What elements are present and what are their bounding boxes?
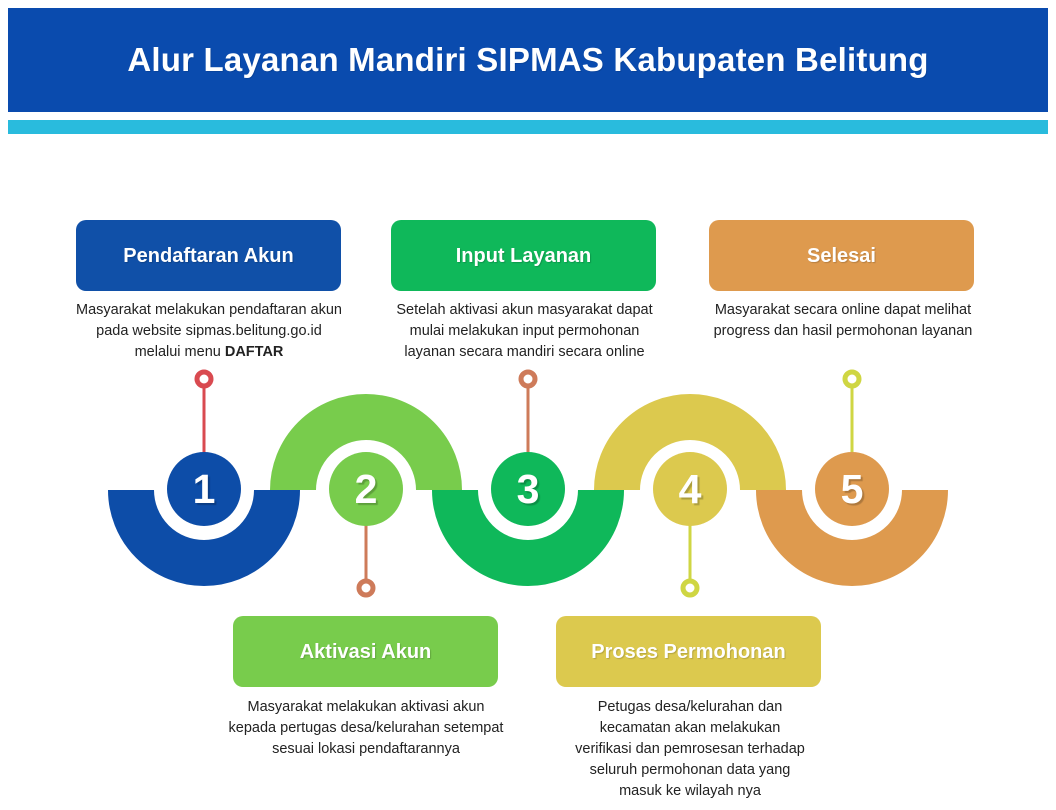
- step-pill-5[interactable]: Selesai: [709, 220, 974, 291]
- connector-dot-3: [521, 372, 535, 386]
- step-description-4: Petugas desa/kelurahan dan kecamatan aka…: [570, 697, 810, 802]
- step-description-2-text: Masyarakat melakukan aktivasi akun kepad…: [229, 699, 504, 757]
- page-title: Alur Layanan Mandiri SIPMAS Kabupaten Be…: [127, 41, 928, 79]
- step-circle-3[interactable]: 3: [491, 452, 565, 526]
- step-description-1-bold: DAFTAR: [225, 344, 284, 360]
- step-label-1: Pendaftaran Akun: [123, 244, 293, 268]
- step-number-5: 5: [841, 466, 864, 513]
- step-description-3: Setelah aktivasi akun masyarakat dapat m…: [392, 300, 657, 363]
- connector-dot-2: [359, 581, 373, 595]
- step-pill-1[interactable]: Pendaftaran Akun: [76, 220, 341, 291]
- step-description-4-text: Petugas desa/kelurahan dan kecamatan aka…: [575, 699, 805, 799]
- step-description-1-text: Masyarakat melakukan pendaftaran akun pa…: [76, 302, 342, 360]
- step-description-5: Masyarakat secara online dapat melihat p…: [712, 300, 974, 342]
- step-description-3-text: Setelah aktivasi akun masyarakat dapat m…: [396, 302, 652, 360]
- connector-dot-1: [197, 372, 211, 386]
- step-description-2: Masyarakat melakukan aktivasi akun kepad…: [225, 697, 507, 760]
- connector-dot-5: [845, 372, 859, 386]
- connector-dot-4: [683, 581, 697, 595]
- step-pill-2[interactable]: Aktivasi Akun: [233, 616, 498, 687]
- step-circle-5[interactable]: 5: [815, 452, 889, 526]
- header-bar: Alur Layanan Mandiri SIPMAS Kabupaten Be…: [8, 8, 1048, 112]
- step-description-5-text: Masyarakat secara online dapat melihat p…: [714, 302, 973, 339]
- step-pill-3[interactable]: Input Layanan: [391, 220, 656, 291]
- step-description-1: Masyarakat melakukan pendaftaran akun pa…: [74, 300, 344, 363]
- step-label-3: Input Layanan: [456, 244, 592, 268]
- step-number-1: 1: [193, 466, 216, 513]
- step-label-2: Aktivasi Akun: [300, 640, 432, 664]
- step-circle-2[interactable]: 2: [329, 452, 403, 526]
- header-accent-rule: [8, 120, 1048, 134]
- step-label-4: Proses Permohonan: [591, 640, 786, 664]
- step-circle-4[interactable]: 4: [653, 452, 727, 526]
- step-number-2: 2: [355, 466, 378, 513]
- step-number-4: 4: [679, 466, 702, 513]
- step-circle-1[interactable]: 1: [167, 452, 241, 526]
- step-number-3: 3: [517, 466, 540, 513]
- step-pill-4[interactable]: Proses Permohonan: [556, 616, 821, 687]
- step-label-5: Selesai: [807, 244, 876, 268]
